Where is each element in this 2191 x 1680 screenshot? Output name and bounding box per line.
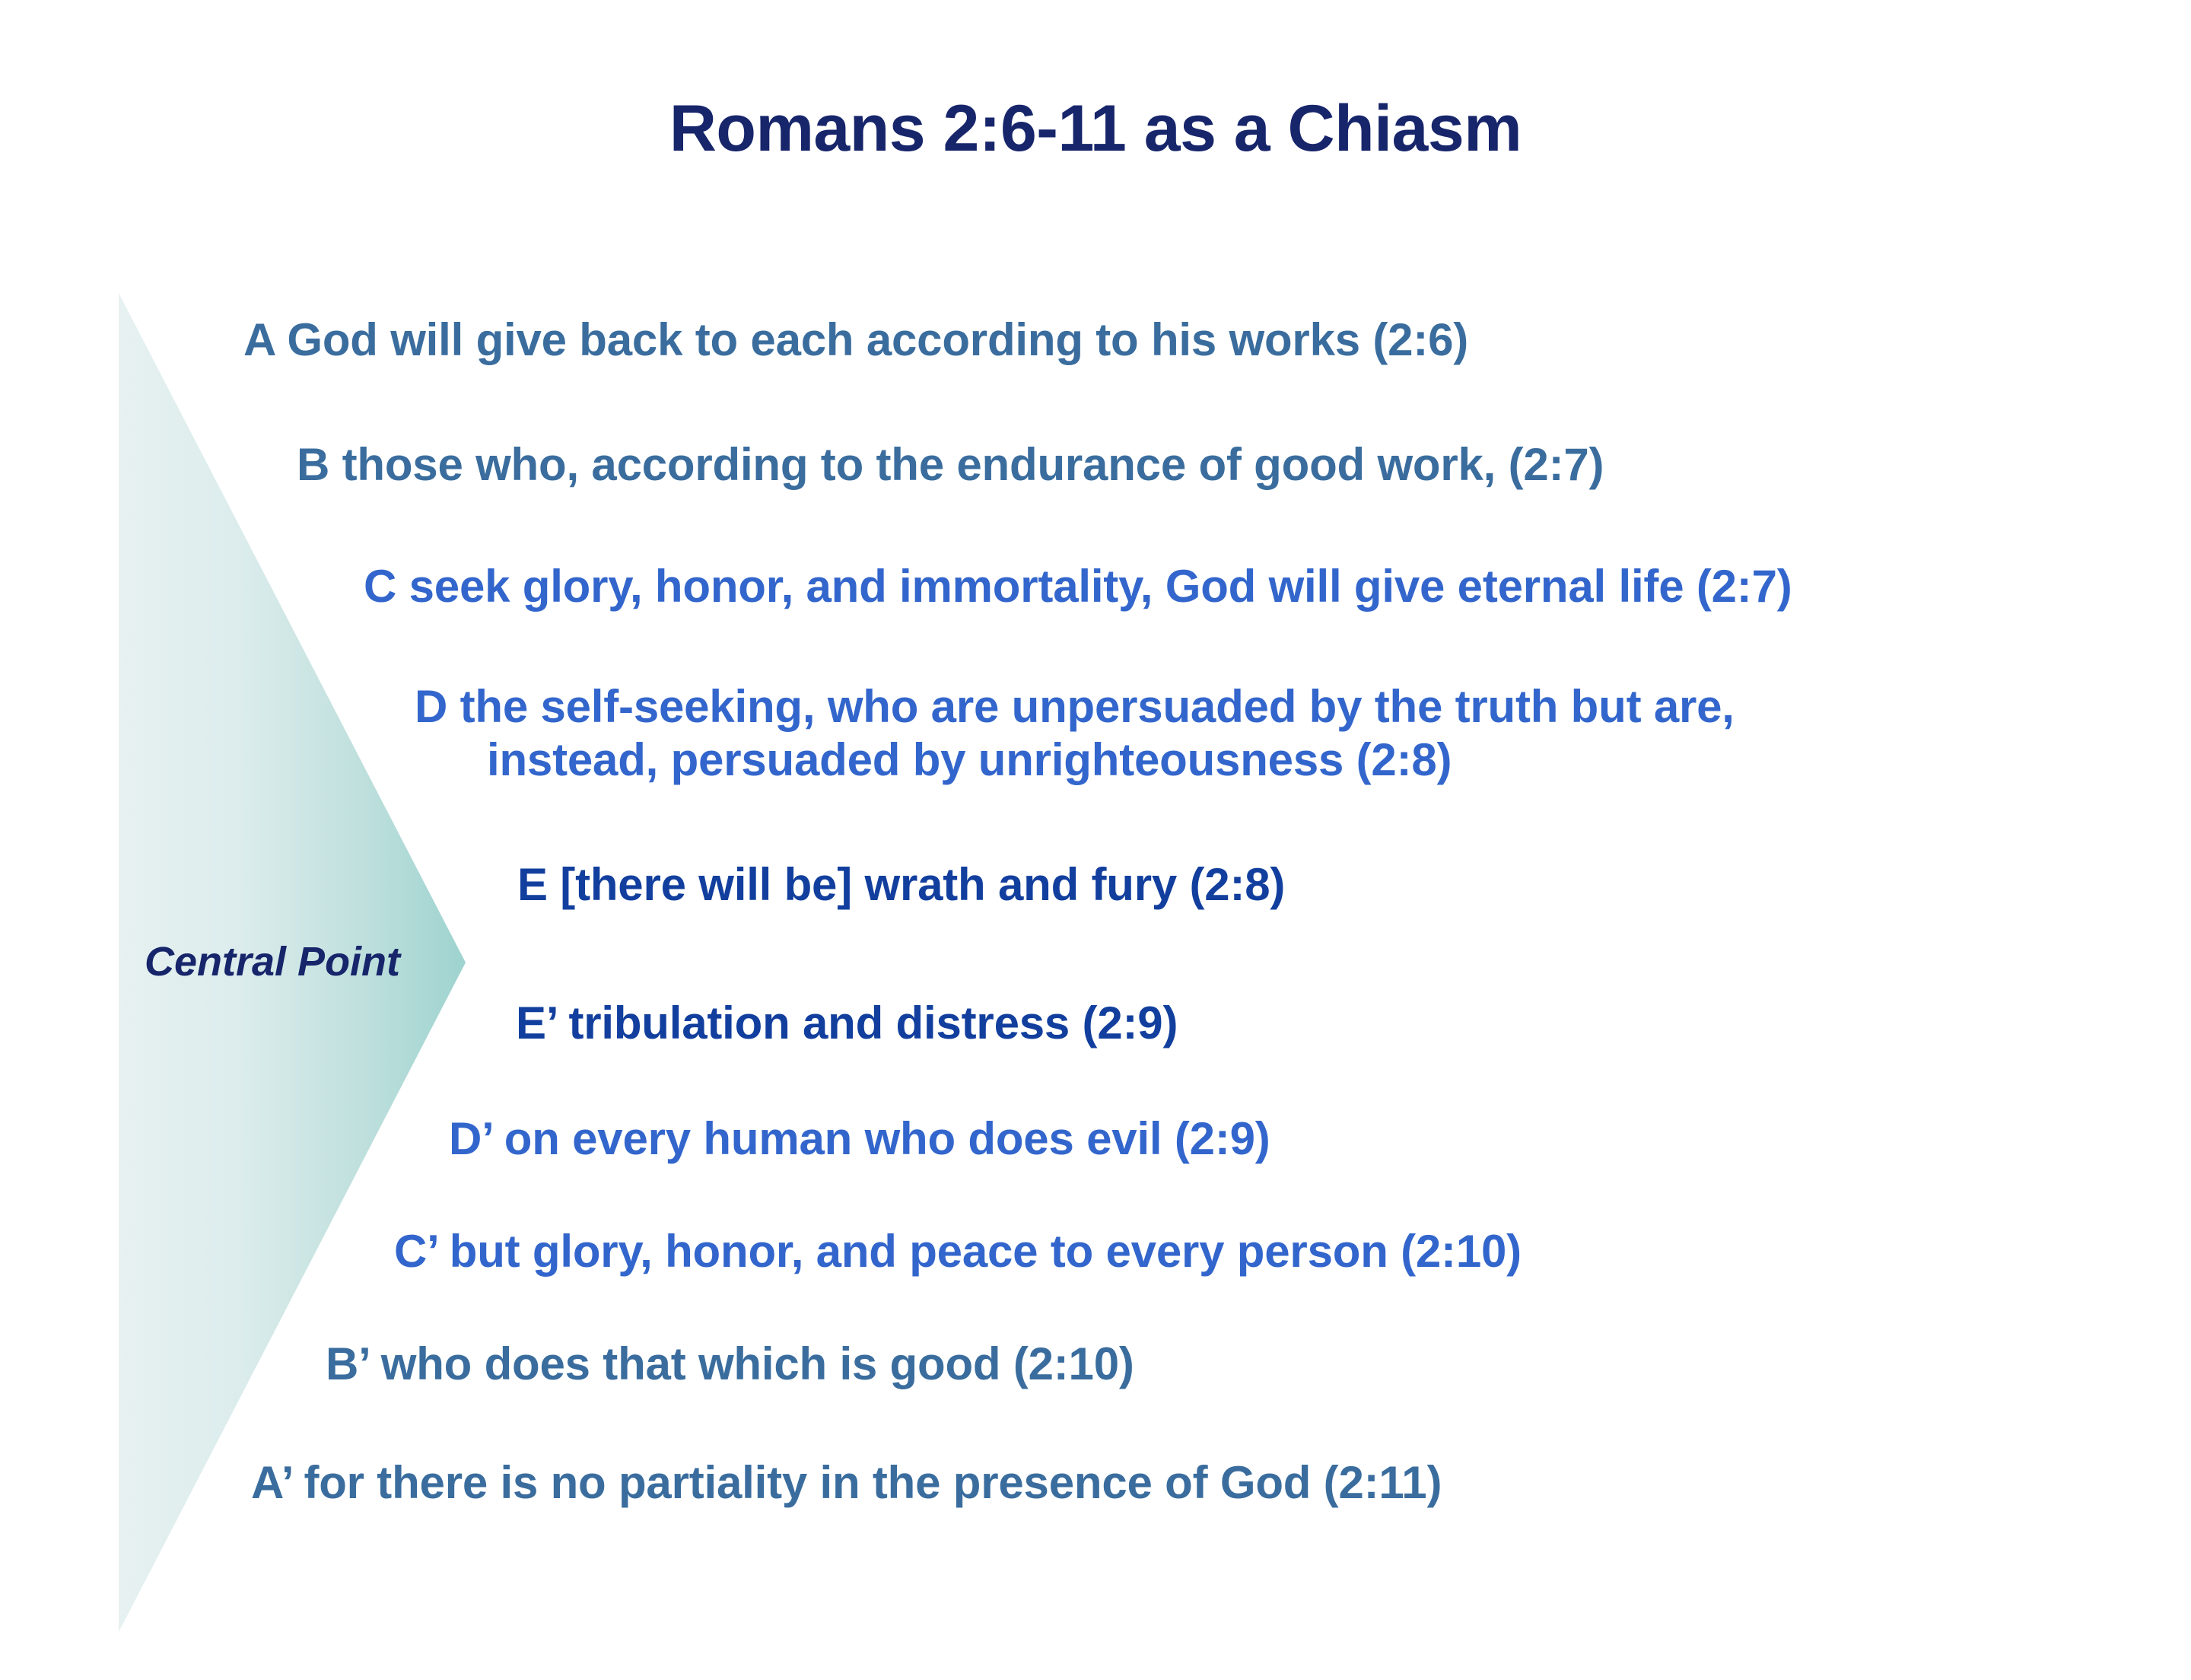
- page-title: Romans 2:6-11 as a Chiasm: [0, 91, 2191, 167]
- chiasm-line-d-text: D the self-seeking, who are unpersuaded …: [415, 681, 1735, 732]
- chiasm-line-e-prime: E’ tribulation and distress (2:9): [516, 997, 1178, 1050]
- chiasm-line-c-prime: C’ but glory, honor, and peace to every …: [394, 1225, 1522, 1278]
- chiasm-line-a: A God will give back to each according t…: [243, 313, 1468, 367]
- chiasm-line-b: B those who, according to the endurance …: [297, 438, 1604, 492]
- chiasm-line-d-continuation: instead, persuaded by unrighteousness (2…: [415, 733, 2012, 787]
- central-point-label: Central Point: [145, 938, 400, 985]
- chiasm-line-c: C seek glory, honor, and immortality, Go…: [364, 560, 1792, 613]
- chiasm-line-d-prime: D’ on every human who does evil (2:9): [449, 1112, 1270, 1166]
- slide-canvas: Romans 2:6-11 as a Chiasm Central Point …: [0, 0, 2191, 1680]
- chiasm-line-a-prime: A’ for there is no partiality in the pre…: [251, 1456, 1442, 1510]
- chiasm-line-e: E [there will be] wrath and fury (2:8): [517, 858, 1285, 912]
- chiasm-line-b-prime: B’ who does that which is good (2:10): [326, 1338, 1134, 1391]
- chiasm-line-d: D the self-seeking, who are unpersuaded …: [415, 680, 2012, 786]
